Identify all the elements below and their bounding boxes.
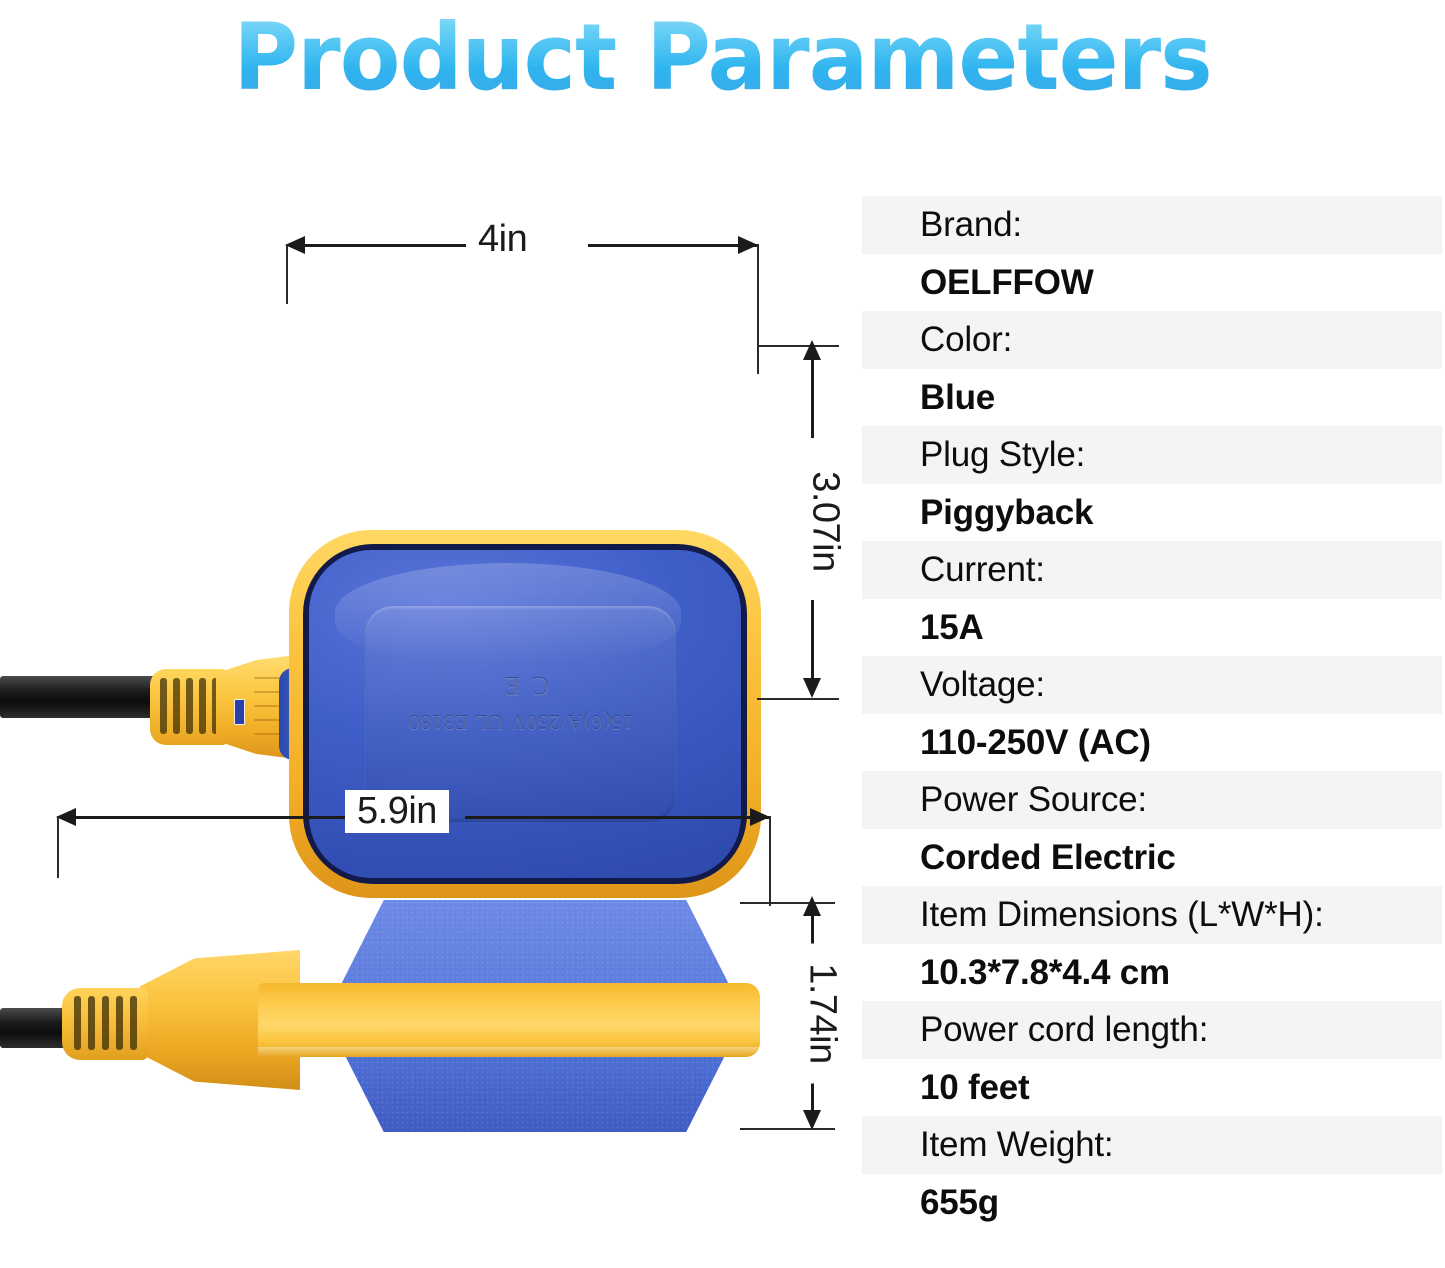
spec-label: Plug Style: [862,426,1442,484]
height-dimension-label: 3.07in [804,454,847,590]
power-cable [0,676,160,718]
spec-value: Blue [862,369,1442,427]
product-figure-top-view: 4in CE 15(6)A/250V UL E31 [0,200,855,730]
spec-label: Current: [862,541,1442,599]
arrow-up-icon [803,340,821,360]
width-dimension-label: 4in [466,218,539,261]
spec-value: OELFFOW [862,254,1442,312]
arrow-down-icon [803,1110,821,1130]
spec-value: 15A [862,599,1442,657]
spec-value: 10.3*7.8*4.4 cm [862,944,1442,1002]
spec-label: Color: [862,311,1442,369]
page-title: Product Parameters [233,12,1211,104]
thickness-dimension-label: 1.74in [801,944,844,1084]
spec-label: Voltage: [862,656,1442,714]
boot-ribbed-sleeve [62,988,148,1060]
spec-value: 110-250V (AC) [862,714,1442,772]
spec-label: Item Weight: [862,1116,1442,1174]
product-figure-side-view: 5.9in 1.74in [0,780,855,1180]
product-specification-table: Brand: OELFFOW Color: Blue Plug Style: P… [862,196,1442,1231]
arrow-down-icon [803,678,821,698]
yellow-center-band [258,983,760,1057]
spec-label: Item Dimensions (L*W*H): [862,886,1442,944]
spec-label: Power Source: [862,771,1442,829]
arrow-up-icon [803,896,821,916]
spec-value: 10 feet [862,1059,1442,1117]
arrow-right-icon [738,236,758,254]
spec-label: Brand: [862,196,1442,254]
float-assembly [0,780,855,1180]
spec-label: Power cord length: [862,1001,1442,1059]
spec-value: Piggyback [862,484,1442,542]
band-highlight [258,1047,760,1057]
embossed-rating-text: 15(6)A/250V UL E3180 [365,710,676,735]
spec-value: Corded Electric [862,829,1442,887]
embossed-certification-marks: CE [365,671,676,701]
arrow-left-icon [285,236,305,254]
page-title-container: Product Parameters [0,4,1445,112]
spec-value: 655g [862,1174,1442,1232]
blue-label-tag [234,699,245,725]
